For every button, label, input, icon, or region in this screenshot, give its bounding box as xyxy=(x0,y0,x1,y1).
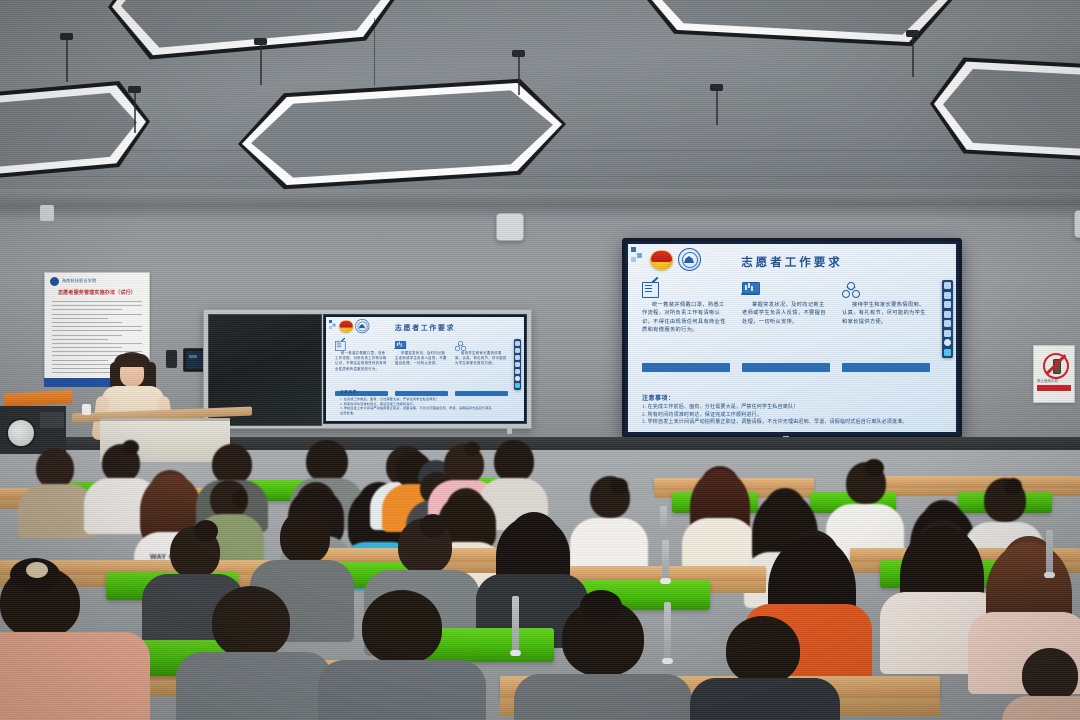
secondary-display[interactable]: ★ 志愿者工作要求 统一着装并佩戴口罩，熟悉工作流程，对所负责工作有清晰认识，不… xyxy=(323,314,527,424)
slide-column-2: 掌握突发状况，及时向记新主老师或学生负责人反馈，不要擅自处理，一切听从安排。 xyxy=(395,341,448,396)
slide-columns-mirror: 统一着装并佩戴口罩，熟悉工作流程，对所负责工作有清晰认识，不得往由现场任何具有商… xyxy=(335,341,508,396)
toolbar-select-icon-main[interactable] xyxy=(944,311,951,318)
lectern-edge xyxy=(100,418,230,421)
audience-person xyxy=(20,448,90,526)
slide-columns: 统一着装并佩戴口罩，熟悉工作流程，对所负责工作有清晰认识，不得往由现场任何具有商… xyxy=(642,282,930,372)
slide-column-1: 统一着装并佩戴口罩，熟悉工作流程，对所负责工作有清晰认识，不得往由现场任何具有商… xyxy=(335,341,388,396)
audience-person xyxy=(318,590,486,720)
slide-note-1-main: 1. 在完成工作前后、面有、分社需要大是，严禁任何学生私自离队！ xyxy=(642,404,926,412)
slide-column-3-text-main: 接待学生和家长要热情周到、认真，有礼有节，尽可能的为学生和家长提供方便。 xyxy=(842,301,930,359)
presentation-slide: ★ 志愿者工作要求 统一着装并佩戴口罩，熟悉工作流程，对所负责工作有清晰认识，不… xyxy=(628,244,956,432)
desk-leg xyxy=(664,602,671,660)
slide-column-1-main: 统一着装并佩戴口罩，熟悉工作流程，对所负责工作有清晰认识，不得往由现场任何具有商… xyxy=(642,282,730,372)
slide-column-1-bar-main xyxy=(642,363,730,372)
toolbar-capture-icon-main[interactable] xyxy=(944,320,951,327)
slide-notes-heading: 注意事项： xyxy=(340,390,494,395)
toolbar-menu-icon-main[interactable] xyxy=(944,339,951,346)
slide-column-2-text-main: 掌握突发状况，及时向记新主老师或学生负责人反馈，不要擅自处理，一切听从安排。 xyxy=(742,301,830,359)
toolbar-shape-icon[interactable] xyxy=(515,355,520,360)
speaker-icon-right xyxy=(1074,210,1080,238)
ceiling-lamp-2 xyxy=(108,0,408,63)
network-nodes-icon-main xyxy=(842,282,859,297)
slide-column-3-bar-main xyxy=(842,363,930,372)
desk-leg xyxy=(662,540,669,580)
poster-title: 志愿者服务管理实施办法（试行） xyxy=(45,289,149,296)
ceiling-wire-5 xyxy=(518,57,520,95)
ceiling-lamp-4 xyxy=(628,0,958,49)
sign-caption: 禁止使用手机 xyxy=(1037,379,1058,384)
blackboard-unit: ★ 志愿者工作要求 统一着装并佩戴口罩，熟悉工作流程，对所负责工作有清晰认识，不… xyxy=(203,309,532,429)
toolbar-eraser-icon[interactable] xyxy=(515,348,520,353)
slide-column-3-main: 接待学生和家长要热情周到、认真，有礼有节，尽可能的为学生和家长提供方便。 xyxy=(842,282,930,372)
laptop-chart-icon-main xyxy=(742,282,759,297)
slide-column-2-bar-main xyxy=(742,363,830,372)
slide-note-3-main: 3. 学校自发上未计间请严动拍照量正职证，调整请假，不允许无理由迟到、早退、请假… xyxy=(642,419,926,427)
wall-shadow xyxy=(0,205,1080,221)
slide-notes: 注意事项： 1. 在完成工作前后、面有、分社需要大是，严禁任何学生私自离队！ 2… xyxy=(642,393,926,427)
toolbar-pen-icon[interactable] xyxy=(515,341,520,346)
desk-leg xyxy=(660,506,667,534)
poster-org: 海南科技职业学院 xyxy=(62,278,96,284)
board-toolbar[interactable] xyxy=(942,280,953,358)
ceiling-wire-4 xyxy=(374,18,375,86)
toolbar-shape-icon-main[interactable] xyxy=(944,301,951,308)
slide-column-3: 接待学生和家长要热情周到、认真，有礼有节，尽可能的为学生和家长提供方便。 xyxy=(455,341,508,396)
audience-person xyxy=(1012,648,1080,720)
laptop-chart-icon xyxy=(395,341,406,347)
toolbar-close-icon-main[interactable] xyxy=(944,349,951,356)
ceiling-lamp-3 xyxy=(238,76,566,192)
ceiling-mount-5 xyxy=(710,84,723,91)
ceiling-mount-1 xyxy=(60,33,73,40)
desk-foot xyxy=(660,578,671,584)
no-mobile-phone-sign: 禁止使用手机 xyxy=(1033,345,1075,403)
cup xyxy=(82,404,91,415)
slide-column-2-text: 掌握突发状况，及时向记新主老师或学生负责人反馈，不要擅自处理，一切听从安排。 xyxy=(395,351,448,387)
equipment-cart xyxy=(0,392,72,454)
lecture-hall-photo: 海南科技职业学院 志愿者服务管理实施办法（试行） 禁止使用手机 ★ xyxy=(0,0,1080,720)
phone-glyph xyxy=(1053,359,1061,374)
toolbar-menu-icon[interactable] xyxy=(515,376,520,381)
board-toolbar-mirror[interactable] xyxy=(514,339,521,390)
network-nodes-icon xyxy=(455,341,466,347)
desk-foot xyxy=(662,658,673,664)
audience-person xyxy=(0,566,150,720)
slide-note-2-main: 2. 所有时间均须准时到达，保证完成工作顺利进行。 xyxy=(642,412,926,420)
toolbar-close-icon[interactable] xyxy=(515,383,520,388)
ceiling-lamp-1 xyxy=(0,78,150,183)
desk-foot xyxy=(510,650,521,656)
ceiling-mount-2 xyxy=(128,86,141,93)
ceiling-wire-7 xyxy=(912,37,914,77)
wall-sensor-icon xyxy=(40,205,54,221)
cart-disc xyxy=(6,418,36,448)
slide-notes-heading-main: 注意事项： xyxy=(642,393,926,402)
ceiling-wire-6 xyxy=(716,91,718,125)
audience-person xyxy=(176,586,332,720)
ceiling-mount-3 xyxy=(254,38,267,45)
toolbar-eraser-icon-main[interactable] xyxy=(944,292,951,299)
poster-logo-icon xyxy=(50,277,59,286)
blackboard-legs xyxy=(222,427,512,433)
slide-notes-mirror: 注意事项： 1. 在完成工作前后、面有、分社需要大是，严禁任何学生私自离队！ 2… xyxy=(340,390,494,416)
toolbar-capture-icon[interactable] xyxy=(515,369,520,374)
cart-block xyxy=(40,412,64,428)
main-interactive-display[interactable]: ★ 志愿者工作要求 统一着装并佩戴口罩，熟悉工作流程，对所负责工作有清晰认识，不… xyxy=(622,238,962,438)
audience-person xyxy=(690,616,840,720)
toolbar-pen-icon-main[interactable] xyxy=(944,282,951,289)
slide-column-1-text-main: 统一着装并佩戴口罩，熟悉工作流程，对所负责工作有清晰认识，不得往由现场任何具有商… xyxy=(642,301,730,359)
speaker-icon xyxy=(496,213,524,241)
ceiling-wire-3 xyxy=(260,45,262,85)
note-pencil-icon xyxy=(335,341,346,347)
slide-title-mirror: 志愿者工作要求 xyxy=(326,323,524,333)
ceiling-wire-1 xyxy=(66,40,68,82)
slide-column-2-main: 掌握突发状况，及时向记新主老师或学生负责人反馈，不要擅自处理，一切听从安排。 xyxy=(742,282,830,372)
note-pencil-icon-main xyxy=(642,282,659,297)
toolbar-select-icon[interactable] xyxy=(515,362,520,367)
slide-column-1-text: 统一着装并佩戴口罩，熟悉工作流程，对所负责工作有清晰认识，不得往由现场任何具有商… xyxy=(335,351,388,387)
desk-leg xyxy=(1046,530,1053,574)
toolbar-settings-icon-main[interactable] xyxy=(944,330,951,337)
slide-column-3-text: 接待学生和家长要热情周到、认真，有礼有节，尽可能的为学生和家长提供方便。 xyxy=(455,351,508,387)
cart-orange-top xyxy=(4,390,72,407)
desk-leg xyxy=(512,596,519,652)
desk-foot xyxy=(1044,572,1055,578)
slide-title: 志愿者工作要求 xyxy=(628,254,956,270)
ceiling-wire-2 xyxy=(134,93,136,133)
ceiling-mount-4 xyxy=(512,50,525,57)
ceiling-mount-6 xyxy=(906,30,919,37)
ceiling xyxy=(0,0,1080,215)
sign-red-bar xyxy=(1037,385,1071,391)
no-mobile-phone-icon xyxy=(1043,353,1069,379)
ceiling-lamp-5 xyxy=(930,56,1080,165)
slide-note-3: 3. 学校自发上未计间请严动拍照量正职证，调整请假，不允许无理由迟到、早退、请假… xyxy=(340,406,494,416)
slide-mirror: ★ 志愿者工作要求 统一着装并佩戴口罩，熟悉工作流程，对所负责工作有清晰认识，不… xyxy=(326,317,524,421)
